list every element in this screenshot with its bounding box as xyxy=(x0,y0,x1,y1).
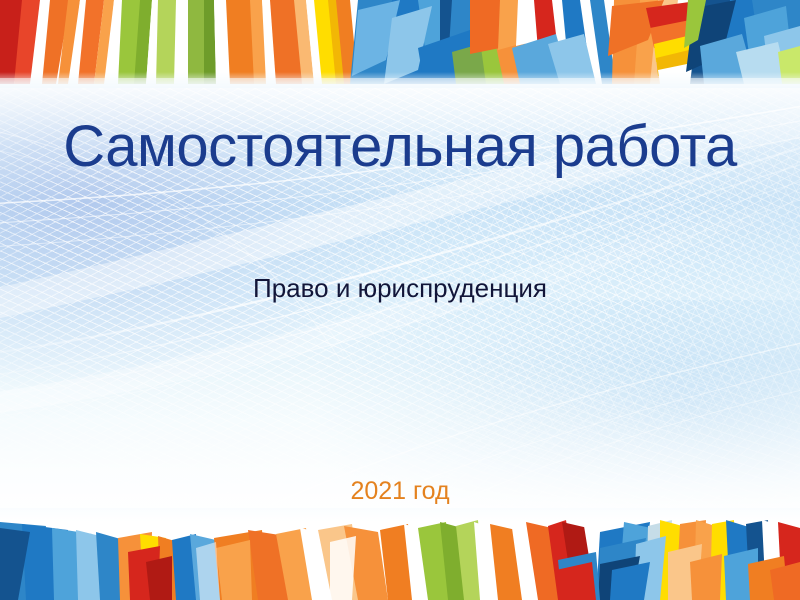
slide-subtitle: Право и юриспруденция xyxy=(0,272,800,304)
presentation-title-slide: Самостоятельная работа Право и юриспруде… xyxy=(0,0,800,600)
slide-year: 2021 год xyxy=(0,476,800,506)
band-bottom-fade xyxy=(0,508,800,522)
decorative-band-bottom xyxy=(0,508,800,600)
band-top-fade xyxy=(0,72,800,88)
slide-title: Самостоятельная работа xyxy=(0,116,800,178)
decorative-band-top xyxy=(0,0,800,88)
